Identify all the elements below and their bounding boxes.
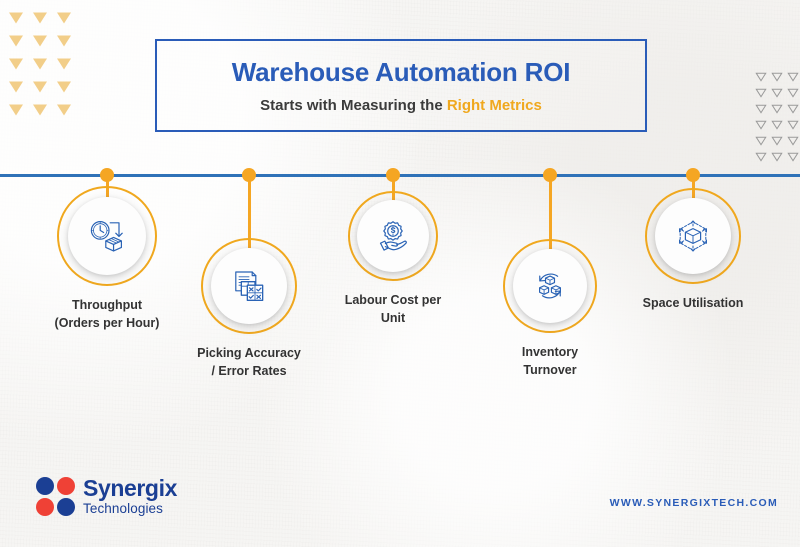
logo-dot-top-right [57, 477, 75, 495]
page-subtitle-accent: Right Metrics [447, 97, 542, 114]
triangle-down-icon [28, 98, 52, 121]
logo-company-tagline: Technologies [83, 502, 177, 516]
gear-dollar-hand-icon [376, 220, 410, 252]
triangle-down-icon [52, 29, 76, 52]
logo-dot-bottom-left [36, 498, 54, 516]
metric-icon-disc-2[interactable] [211, 248, 287, 324]
triangle-down-icon [28, 29, 52, 52]
triangle-down-outline-icon [769, 101, 785, 117]
metric-icon-disc-3[interactable] [357, 200, 429, 272]
triangle-down-outline-icon [785, 69, 800, 85]
triangle-down-icon [28, 75, 52, 98]
clock-box-throughput-icon [89, 219, 124, 253]
cube-expand-icon [675, 219, 710, 253]
triangle-down-outline-icon [753, 117, 769, 133]
infographic-canvas: Warehouse Automation ROI Starts with Mea… [0, 0, 800, 547]
metric-label-2: Picking Accuracy / Error Rates [164, 344, 334, 380]
triangle-down-outline-icon [785, 133, 800, 149]
triangle-down-icon [52, 75, 76, 98]
page-subtitle-lead: Starts with Measuring the [260, 97, 447, 114]
triangle-down-icon [28, 6, 52, 29]
logo-dot-bottom-right [57, 498, 75, 516]
triangle-down-outline-icon [785, 85, 800, 101]
header-banner: Warehouse Automation ROI Starts with Mea… [155, 39, 647, 132]
company-logo: Synergix Technologies [36, 477, 177, 516]
logo-company-name: Synergix [83, 477, 177, 500]
metric-label-5: Space Utilisation [608, 294, 778, 312]
triangle-down-outline-icon [753, 85, 769, 101]
boxes-cycle-icon [533, 270, 567, 302]
metric-label-4: Inventory Turnover [465, 343, 635, 379]
website-url[interactable]: WWW.SYNERGIXTECH.COM [610, 497, 778, 509]
triangle-down-outline-icon [753, 69, 769, 85]
triangle-down-outline-icon [769, 133, 785, 149]
triangle-down-icon [4, 98, 28, 121]
page-title: Warehouse Automation ROI [232, 57, 571, 88]
logo-wordmark: Synergix Technologies [83, 477, 177, 516]
document-checklist-icon [231, 269, 266, 303]
metric-icon-disc-1[interactable] [68, 197, 146, 275]
triangle-down-outline-icon [785, 149, 800, 165]
triangle-down-icon [4, 75, 28, 98]
timeline-axis [0, 174, 800, 177]
metric-label-1: Throughput (Orders per Hour) [22, 296, 192, 332]
triangle-down-outline-icon [753, 133, 769, 149]
metric-icon-disc-5[interactable] [655, 198, 731, 274]
triangle-down-icon [4, 29, 28, 52]
triangle-down-icon [52, 52, 76, 75]
triangle-down-icon [28, 52, 52, 75]
triangle-down-outline-icon [785, 117, 800, 133]
triangle-down-outline-icon [753, 101, 769, 117]
triangle-down-icon [52, 98, 76, 121]
triangle-down-icon [4, 6, 28, 29]
logo-dots-icon [36, 477, 75, 516]
decor-pattern-top-left [4, 6, 76, 121]
triangle-down-outline-icon [769, 117, 785, 133]
triangle-down-outline-icon [769, 69, 785, 85]
decor-pattern-right [753, 69, 800, 165]
triangle-down-icon [52, 6, 76, 29]
metric-icon-disc-4[interactable] [513, 249, 587, 323]
triangle-down-icon [4, 52, 28, 75]
triangle-down-outline-icon [753, 149, 769, 165]
triangle-down-outline-icon [769, 85, 785, 101]
triangle-down-outline-icon [785, 101, 800, 117]
logo-dot-top-left [36, 477, 54, 495]
page-subtitle: Starts with Measuring the Right Metrics [260, 97, 542, 114]
triangle-down-outline-icon [769, 149, 785, 165]
metric-label-3: Labour Cost per Unit [308, 291, 478, 327]
